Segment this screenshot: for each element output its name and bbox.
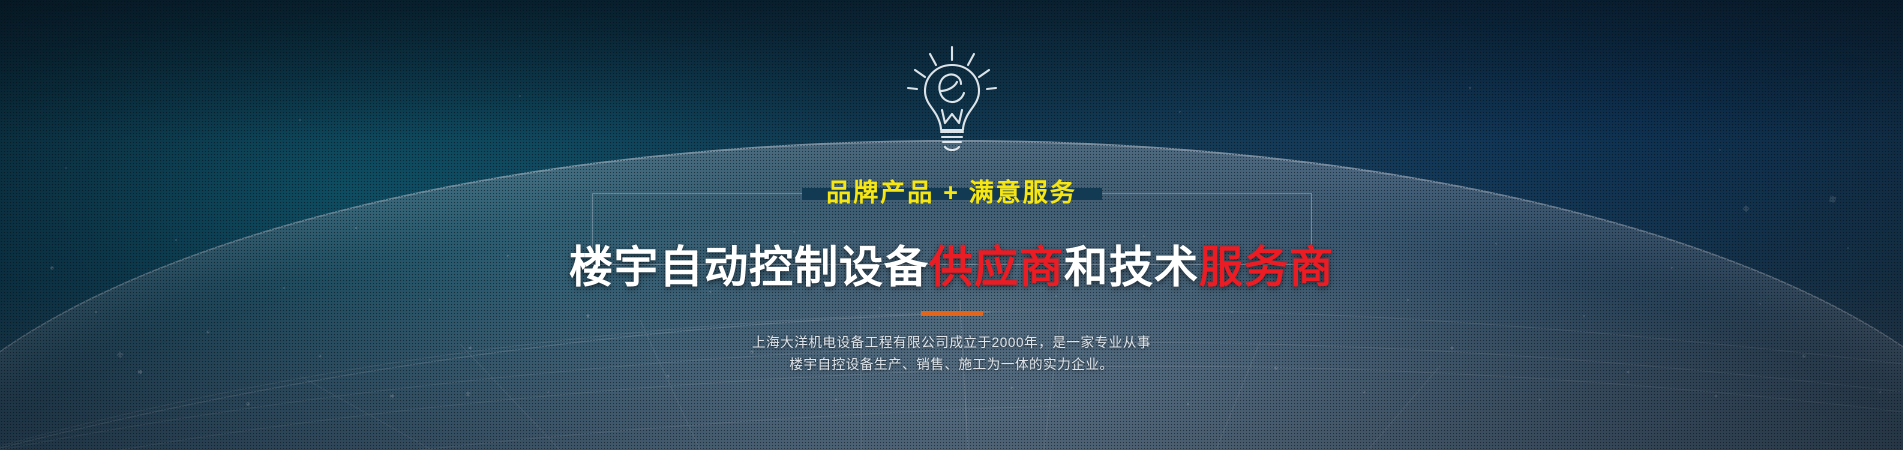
banner-content: 品牌产品 + 满意服务 楼宇自动控制设备供应商和技术服务商 上海大洋机电设备工程…: [0, 0, 1903, 450]
orange-divider: [921, 311, 983, 316]
headline-segment-2: 供应商: [929, 243, 1064, 292]
headline-segment-3: 和技术: [1064, 243, 1199, 292]
headline-segment-1: 楼宇自动控制设备: [569, 243, 929, 292]
headline-segment-4: 服务商: [1199, 243, 1334, 292]
kicker-text: 品牌产品 + 满意服务: [804, 173, 1099, 209]
description-line-2: 楼宇自控设备生产、销售、施工为一体的实力企业。: [602, 354, 1302, 376]
hero-banner: 品牌产品 + 满意服务 楼宇自动控制设备供应商和技术服务商 上海大洋机电设备工程…: [0, 0, 1903, 450]
page-title: 楼宇自动控制设备供应商和技术服务商: [569, 231, 1334, 295]
banner-description: 上海大洋机电设备工程有限公司成立于2000年，是一家专业从事 楼宇自控设备生产、…: [602, 332, 1302, 376]
description-line-1: 上海大洋机电设备工程有限公司成立于2000年，是一家专业从事: [602, 332, 1302, 354]
lightbulb-idea-icon: [904, 44, 1000, 154]
